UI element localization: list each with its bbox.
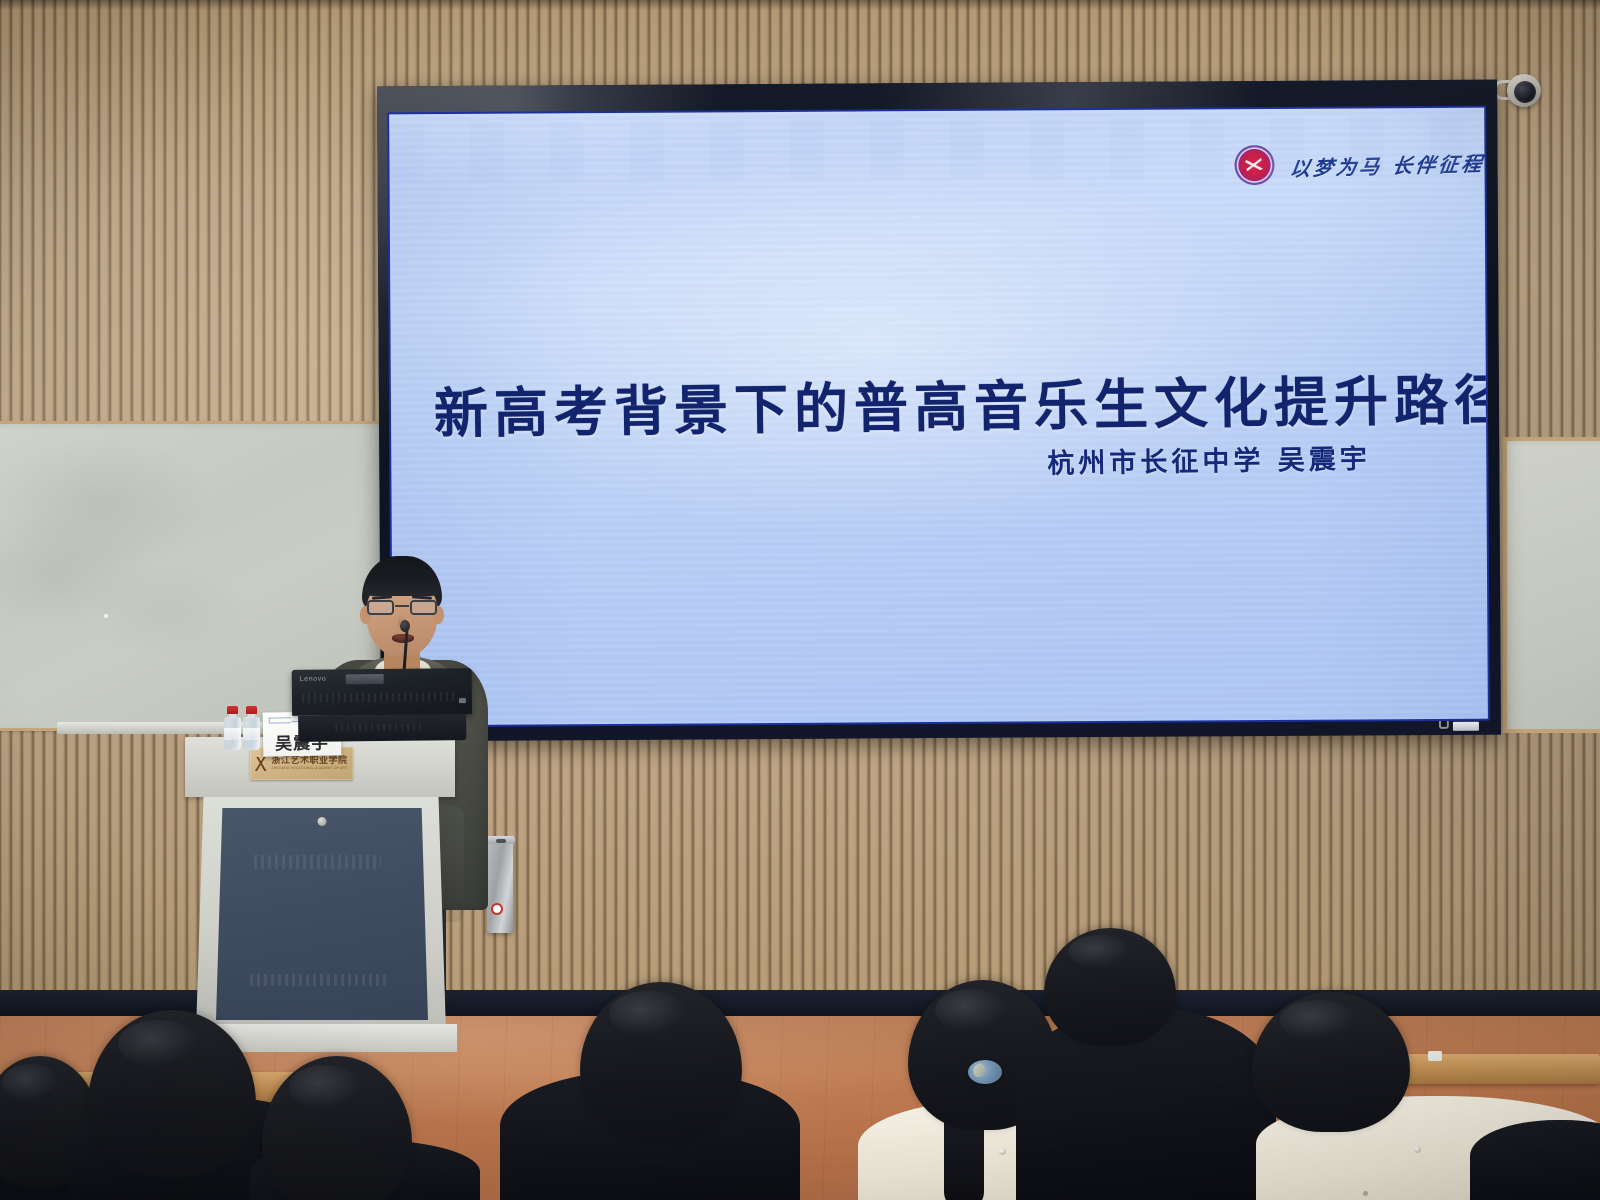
laptop-port [459, 698, 466, 703]
camera-body [1507, 74, 1541, 107]
blue-scrunchie [968, 1060, 1002, 1084]
slide-title: 新高考背景下的普高音乐生文化提升路径 [433, 356, 1444, 448]
school-emblem-icon [1234, 145, 1274, 185]
security-camera-icon [1493, 72, 1541, 108]
glasses-lens-left [367, 600, 394, 615]
slide-author: 杭州市长征中学 吴震宇 [1047, 437, 1371, 481]
laptop-keyboard-base [298, 714, 466, 742]
bottle-cap [227, 706, 238, 714]
bottle-cap [246, 706, 257, 714]
lecture-hall-photo: 以梦为马 长伴征程 新高考背景下的普高音乐生文化提升路径 杭州市长征中学 吴震宇 [0, 0, 1600, 1200]
screen-hook [1439, 721, 1449, 729]
academy-logo-icon [255, 757, 267, 771]
water-bottle [243, 706, 260, 750]
podium-plaque-subtext: ZHEJIANG VOCATIONAL ACADEMY OF ART [271, 766, 347, 770]
podium-knob [318, 817, 327, 826]
trash-bin-sticker [491, 903, 503, 915]
trash-bin-opening [496, 839, 506, 843]
projection-screen-surface: 以梦为马 长伴征程 新高考背景下的普高音乐生文化提升路径 杭州市长征中学 吴震宇 [389, 108, 1488, 726]
right-wall-panel [1503, 437, 1600, 733]
water-bottle [224, 706, 241, 750]
bench-cap [1428, 1051, 1442, 1061]
glasses-icon [366, 600, 438, 615]
name-card-rule [269, 717, 291, 723]
bottle-label [243, 728, 260, 740]
trash-bin [487, 841, 513, 933]
slide-motto: 以梦为马 长伴征程 [1288, 147, 1486, 181]
glasses-lens-right [410, 600, 437, 615]
podium-front-text [250, 974, 390, 986]
wall-top-shadow [0, 0, 1600, 10]
microphone-icon [400, 620, 410, 632]
podium-plaque-text: 浙江艺术职业学院 [271, 757, 347, 766]
bottle-label [224, 728, 241, 740]
laptop[interactable]: Lenovo [292, 668, 473, 742]
slide-header: 以梦为马 长伴征程 [1234, 144, 1484, 186]
presenter-hair-front [364, 570, 440, 596]
laptop-lid: Lenovo [292, 668, 472, 716]
audience-coat [1470, 1120, 1600, 1200]
screen-inner-border: 以梦为马 长伴征程 新高考背景下的普高音乐生文化提升路径 杭州市长征中学 吴震宇 [387, 106, 1490, 728]
presenter-mouth [392, 634, 414, 643]
laptop-screen-content [302, 692, 458, 703]
camera-lens [1514, 81, 1536, 103]
panel-highlight-dot [104, 614, 108, 618]
podium-front-panel [216, 808, 428, 1020]
screen-badge [1453, 722, 1479, 731]
laptop-sticker [346, 674, 384, 684]
projection-screen-frame: 以梦为马 长伴征程 新高考背景下的普高音乐生文化提升路径 杭州市长征中学 吴震宇 [377, 80, 1501, 742]
glasses-bridge [395, 605, 409, 607]
laptop-brand-label: Lenovo [300, 676, 327, 683]
